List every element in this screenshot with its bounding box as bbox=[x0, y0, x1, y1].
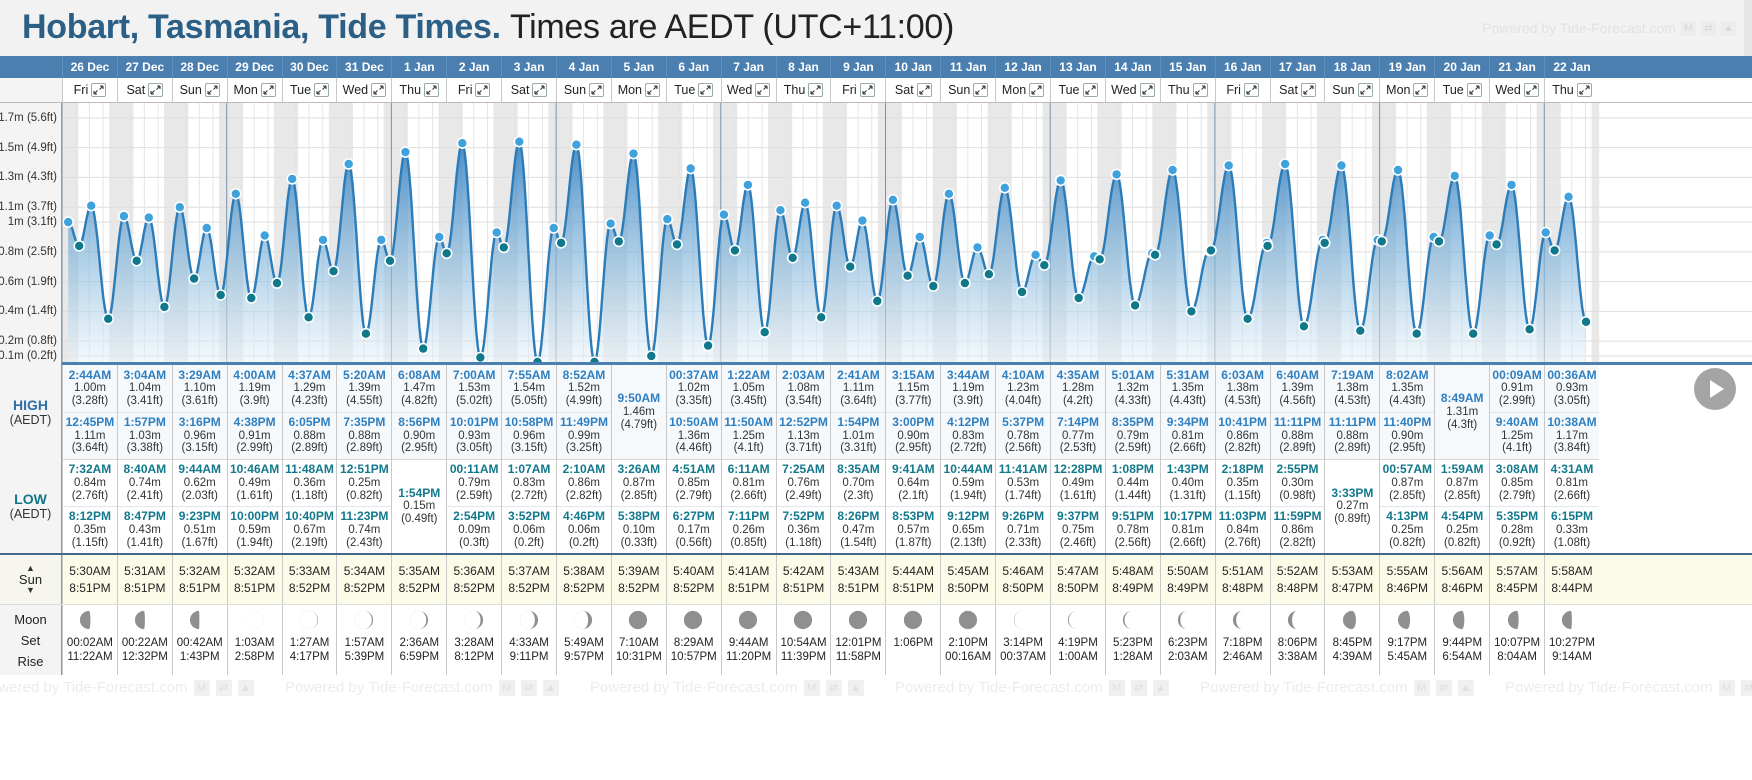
tide-event: 9:40AM1.25m(4.1ft) bbox=[1490, 412, 1544, 460]
high-tide-point[interactable] bbox=[260, 231, 270, 241]
moonrise-time: 11:39PM bbox=[781, 651, 826, 663]
moonset-label: Set bbox=[21, 633, 41, 648]
high-tide-point[interactable] bbox=[492, 228, 502, 238]
moon-phase-icon bbox=[628, 610, 649, 631]
high-tide-point[interactable] bbox=[175, 202, 185, 212]
low-tide-point[interactable] bbox=[1017, 287, 1027, 297]
high-tide-point[interactable] bbox=[376, 235, 386, 245]
tide-time: 11:49PM bbox=[560, 416, 608, 429]
high-tide-point[interactable] bbox=[915, 232, 925, 242]
low-tide-block: 7:32AM0.84m(2.76ft)8:12PM0.35m(1.15ft) bbox=[63, 459, 117, 553]
low-tide-point[interactable] bbox=[845, 262, 855, 272]
tide-height-ft: (2.89ft) bbox=[346, 442, 382, 455]
low-tide-point[interactable] bbox=[132, 256, 142, 266]
tide-height-m: 0.99m bbox=[568, 430, 600, 443]
low-tide-point[interactable] bbox=[1263, 241, 1273, 251]
high-tide-point[interactable] bbox=[287, 174, 297, 184]
tide-time: 11:11PM bbox=[1274, 416, 1321, 429]
tide-height-m: 1.03m bbox=[129, 430, 161, 443]
tide-height-ft: (0.56ft) bbox=[676, 537, 712, 550]
low-tide-point[interactable] bbox=[1130, 300, 1140, 310]
date-header-cell[interactable]: 27 Dec bbox=[117, 56, 172, 78]
date-header-cell[interactable]: 8 Jan bbox=[776, 56, 831, 78]
tide-height-m: 0.86m bbox=[568, 477, 600, 490]
tide-time: 10:41PM bbox=[1218, 416, 1267, 429]
high-tide-point[interactable] bbox=[973, 242, 983, 252]
tide-time: 4:12PM bbox=[947, 416, 989, 429]
y-axis-tick-label: 0.1m (0.2ft) bbox=[0, 350, 57, 362]
moon-phase-icon bbox=[299, 610, 320, 631]
moon-cell: 9:44AM11:20PM bbox=[721, 605, 776, 675]
high-tide-point[interactable] bbox=[1485, 231, 1495, 241]
tide-height-ft: (1.41ft) bbox=[127, 537, 163, 550]
tide-event: 00:57AM0.87m(2.85ft) bbox=[1380, 460, 1434, 506]
low-tide-point[interactable] bbox=[1434, 236, 1444, 246]
low-tide-point[interactable] bbox=[418, 344, 428, 354]
tide-height-m: 0.88m bbox=[294, 430, 326, 443]
high-tide-point[interactable] bbox=[1224, 161, 1234, 171]
low-tide-point[interactable] bbox=[703, 341, 713, 351]
play-button-overlay[interactable] bbox=[1694, 368, 1736, 410]
date-header-cell[interactable]: 4 Jan bbox=[556, 56, 611, 78]
low-tide-point[interactable] bbox=[730, 245, 740, 255]
low-tide-point[interactable] bbox=[1412, 329, 1422, 339]
tide-height-ft: (2.89ft) bbox=[1279, 442, 1315, 455]
low-tide-point[interactable] bbox=[1468, 329, 1478, 339]
low-tide-point[interactable] bbox=[1243, 314, 1253, 324]
tide-height-ft: (2.56ft) bbox=[1115, 537, 1151, 550]
sun-cell: 5:32AM8:51PM bbox=[172, 555, 227, 604]
low-tide-point[interactable] bbox=[1095, 254, 1105, 264]
date-header-cell[interactable]: 26 Dec bbox=[62, 56, 117, 78]
low-tide-point[interactable] bbox=[103, 314, 113, 324]
low-tide-block: 3:33PM0.27m(0.89ft) bbox=[1325, 459, 1379, 553]
tide-height-m: 0.06m bbox=[513, 524, 545, 537]
expand-icon[interactable] bbox=[1358, 83, 1373, 97]
dow-label: Sun bbox=[1332, 83, 1354, 97]
tide-height-ft: (2.79ft) bbox=[1499, 490, 1535, 503]
low-tide-point[interactable] bbox=[159, 302, 169, 312]
low-tide-point[interactable] bbox=[590, 357, 600, 362]
low-tide-point[interactable] bbox=[246, 293, 256, 303]
tide-height-m: 1.25m bbox=[1501, 430, 1533, 443]
date-header-cell[interactable]: 15 Jan bbox=[1160, 56, 1215, 78]
low-tide-point[interactable] bbox=[272, 278, 282, 288]
moonrise-time: 4:17PM bbox=[290, 651, 330, 663]
tide-time: 6:03AM bbox=[1221, 369, 1264, 382]
date-header-cell[interactable]: 1 Jan bbox=[391, 56, 446, 78]
low-tide-block: 1:08PM0.44m(1.44ft)9:51PM0.78m(2.56ft) bbox=[1106, 459, 1160, 553]
date-header-cell[interactable]: 22 Jan bbox=[1544, 56, 1599, 78]
date-header-cell[interactable]: 7 Jan bbox=[721, 56, 776, 78]
tide-height-ft: (0.89ft) bbox=[1334, 513, 1370, 526]
date-header-cell[interactable]: 29 Dec bbox=[227, 56, 282, 78]
low-tide-point[interactable] bbox=[361, 329, 371, 339]
tide-height-ft: (3.05ft) bbox=[456, 442, 492, 455]
date-header-cell[interactable]: 2 Jan bbox=[446, 56, 501, 78]
high-tide-point[interactable] bbox=[629, 149, 639, 159]
dow-label: Thu bbox=[784, 83, 806, 97]
date-header-cell[interactable]: 11 Jan bbox=[940, 56, 995, 78]
low-tide-point[interactable] bbox=[960, 278, 970, 288]
expand-icon[interactable] bbox=[475, 83, 490, 97]
tide-height-ft: (4.23ft) bbox=[291, 395, 327, 408]
high-tide-point[interactable] bbox=[1112, 169, 1122, 179]
high-tide-point[interactable] bbox=[944, 189, 954, 199]
powered-by-text: Powered by Tide-Forecast.com bbox=[0, 679, 188, 696]
low-tide-point[interactable] bbox=[1581, 317, 1591, 327]
high-tide-point[interactable] bbox=[571, 140, 581, 150]
tide-height-m: 1.31m bbox=[1446, 406, 1478, 419]
expand-icon[interactable] bbox=[1524, 83, 1539, 97]
high-tide-point[interactable] bbox=[686, 164, 696, 174]
low-tide-point[interactable] bbox=[1492, 239, 1502, 249]
expand-icon[interactable] bbox=[1193, 83, 1208, 97]
logo-badge-1: M bbox=[804, 680, 820, 696]
tide-event: 4:38PM0.91m(2.99ft) bbox=[228, 412, 282, 460]
low-tide-point[interactable] bbox=[533, 357, 543, 362]
high-tide-point[interactable] bbox=[662, 214, 672, 224]
date-header-cell[interactable]: 9 Jan bbox=[830, 56, 885, 78]
tide-event: 10:00PM0.59m(1.94ft) bbox=[228, 506, 282, 553]
moon-phase-icon bbox=[189, 610, 210, 631]
low-tide-point[interactable] bbox=[189, 274, 199, 284]
high-tide-point[interactable] bbox=[888, 195, 898, 205]
dow-label: Sat bbox=[126, 83, 145, 97]
tide-time: 4:10AM bbox=[1002, 369, 1045, 382]
sun-cell: 5:41AM8:51PM bbox=[721, 555, 776, 604]
moonset-time: 2:10PM bbox=[948, 637, 988, 649]
moon-cell: 00:02AM11:22AM bbox=[62, 605, 117, 675]
date-header-cell[interactable]: 12 Jan bbox=[995, 56, 1050, 78]
tide-event: 9:44AM0.62m(2.03ft) bbox=[173, 460, 227, 506]
tide-time: 10:17PM bbox=[1163, 510, 1212, 523]
low-tide-point[interactable] bbox=[475, 353, 485, 363]
high-tide-point[interactable] bbox=[549, 223, 559, 233]
dow-label: Tue bbox=[1058, 83, 1079, 97]
low-tide-point[interactable] bbox=[1186, 306, 1196, 316]
expand-icon[interactable] bbox=[917, 83, 932, 97]
dow-label: Sat bbox=[1279, 83, 1298, 97]
date-header-cell[interactable]: 30 Dec bbox=[282, 56, 337, 78]
date-header-row: 26 Dec27 Dec28 Dec29 Dec30 Dec31 Dec1 Ja… bbox=[0, 56, 1752, 78]
low-tide-point[interactable] bbox=[329, 266, 339, 276]
high-tide-point[interactable] bbox=[231, 189, 241, 199]
low-tide-point[interactable] bbox=[1320, 238, 1330, 248]
high-tide-point[interactable] bbox=[1564, 192, 1574, 202]
expand-icon[interactable] bbox=[371, 83, 386, 97]
tide-height-ft: (0.82ft) bbox=[1444, 537, 1480, 550]
sunrise-time: 5:53AM bbox=[1332, 564, 1373, 578]
dow-label: Sat bbox=[511, 83, 530, 97]
tide-height-m: 1.11m bbox=[843, 382, 874, 395]
tide-event: 2:18PM0.35m(1.15ft) bbox=[1216, 460, 1270, 506]
expand-icon[interactable] bbox=[589, 83, 604, 97]
date-header-cell[interactable]: 19 Jan bbox=[1379, 56, 1434, 78]
expand-icon[interactable] bbox=[1577, 83, 1592, 97]
dow-header-cell: Tue bbox=[666, 78, 721, 102]
date-header-cell[interactable]: 13 Jan bbox=[1050, 56, 1105, 78]
scrollbar-right[interactable] bbox=[1744, 0, 1752, 56]
logo-badge-3: ▲ bbox=[1153, 680, 1169, 696]
dow-label: Tue bbox=[290, 83, 311, 97]
high-tide-point[interactable] bbox=[63, 217, 73, 227]
date-header-cell[interactable]: 6 Jan bbox=[666, 56, 721, 78]
low-tide-point[interactable] bbox=[903, 271, 913, 281]
low-tide-point[interactable] bbox=[1150, 250, 1160, 260]
tide-time: 9:37PM bbox=[1057, 510, 1099, 523]
tide-height-m: 0.86m bbox=[1227, 430, 1259, 443]
sun-cell: 5:47AM8:50PM bbox=[1050, 555, 1105, 604]
high-tide-point[interactable] bbox=[1000, 183, 1010, 193]
low-tide-point[interactable] bbox=[672, 239, 682, 249]
high-tide-point[interactable] bbox=[719, 210, 729, 220]
high-tide-point[interactable] bbox=[606, 219, 616, 229]
date-header-cell[interactable]: 14 Jan bbox=[1105, 56, 1160, 78]
expand-icon[interactable] bbox=[1467, 83, 1482, 97]
moon-cell: 10:54AM11:39PM bbox=[776, 605, 831, 675]
tide-height-ft: (3.35ft) bbox=[676, 395, 712, 408]
expand-icon[interactable] bbox=[1029, 83, 1044, 97]
moon-phase-icon bbox=[1067, 610, 1088, 631]
high-tide-block: 3:29AM1.10m(3.61ft)3:16PM0.96m(3.15ft) bbox=[173, 365, 227, 459]
tide-height-ft: (2.3ft) bbox=[843, 490, 873, 503]
tide-time: 10:40PM bbox=[285, 510, 334, 523]
date-header-cell[interactable]: 10 Jan bbox=[885, 56, 940, 78]
low-tide-point[interactable] bbox=[74, 241, 84, 251]
high-tide-point[interactable] bbox=[144, 213, 154, 223]
moon-phase-icon bbox=[793, 610, 814, 631]
tide-height-ft: (1.74ft) bbox=[1005, 490, 1041, 503]
high-tide-point[interactable] bbox=[1541, 228, 1551, 238]
high-tide-point[interactable] bbox=[202, 223, 212, 233]
low-tide-point[interactable] bbox=[646, 351, 656, 361]
low-tide-point[interactable] bbox=[1299, 321, 1309, 331]
date-header-cell[interactable]: 17 Jan bbox=[1270, 56, 1325, 78]
high-tide-point[interactable] bbox=[857, 216, 867, 226]
date-header-cell[interactable]: 16 Jan bbox=[1215, 56, 1270, 78]
tide-time: 11:59PM bbox=[1274, 510, 1322, 523]
date-header-cell[interactable]: 18 Jan bbox=[1324, 56, 1379, 78]
sun-cell: 5:37AM8:52PM bbox=[501, 555, 556, 604]
tide-height-m: 0.65m bbox=[952, 524, 984, 537]
dow-label: Wed bbox=[1111, 83, 1136, 97]
tide-height-m: 1.46m bbox=[623, 406, 655, 419]
high-tide-point[interactable] bbox=[1280, 159, 1290, 169]
low-tide-point[interactable] bbox=[872, 296, 882, 306]
tide-event: 7:19AM1.38m(4.53ft) bbox=[1325, 365, 1379, 412]
tide-day-column: 7:55AM1.54m(5.05ft)10:58PM0.96m(3.15ft)1… bbox=[501, 365, 556, 553]
moonrise-time: 2:58PM bbox=[235, 651, 275, 663]
dow-header-cell: Sun bbox=[556, 78, 611, 102]
high-tide-block: 4:10AM1.23m(4.04ft)5:37PM0.78m(2.56ft) bbox=[996, 365, 1050, 459]
expand-icon[interactable] bbox=[973, 83, 988, 97]
low-tide-point[interactable] bbox=[556, 238, 566, 248]
high-tide-point[interactable] bbox=[344, 159, 354, 169]
dow-label: Fri bbox=[1226, 83, 1241, 97]
date-header-cell[interactable]: 21 Jan bbox=[1489, 56, 1544, 78]
high-tide-point[interactable] bbox=[1507, 180, 1517, 190]
high-tide-point[interactable] bbox=[400, 147, 410, 157]
dow-header-cell: Fri bbox=[62, 78, 117, 102]
date-header-cell[interactable]: 5 Jan bbox=[611, 56, 666, 78]
dow-label: Sun bbox=[180, 83, 202, 97]
expand-icon[interactable] bbox=[1083, 83, 1098, 97]
high-tide-point[interactable] bbox=[800, 198, 810, 208]
low-tide-point[interactable] bbox=[760, 327, 770, 337]
tide-height-ft: (0.82ft) bbox=[346, 490, 382, 503]
high-tide-point[interactable] bbox=[1336, 161, 1346, 171]
tide-time: 5:37PM bbox=[1002, 416, 1044, 429]
low-tide-point[interactable] bbox=[788, 253, 798, 263]
date-header-cell[interactable]: 3 Jan bbox=[501, 56, 556, 78]
chart-plot-area[interactable] bbox=[62, 103, 1752, 365]
high-tide-point[interactable] bbox=[86, 201, 96, 211]
dow-label: Fri bbox=[74, 83, 89, 97]
powered-by-footer: Powered by Tide-Forecast.comM⇄▲ bbox=[285, 679, 559, 696]
tide-time: 3:16PM bbox=[179, 416, 221, 429]
tide-height-m: 0.84m bbox=[74, 477, 106, 490]
low-tide-point[interactable] bbox=[1525, 324, 1535, 334]
low-tide-point[interactable] bbox=[1550, 245, 1560, 255]
low-tide-point[interactable] bbox=[1206, 245, 1216, 255]
low-tide-point[interactable] bbox=[1355, 326, 1365, 336]
tide-time: 11:11PM bbox=[1329, 416, 1376, 429]
expand-icon[interactable] bbox=[148, 83, 163, 97]
low-tide-point[interactable] bbox=[1377, 236, 1387, 246]
sun-cell: 5:58AM8:44PM bbox=[1544, 555, 1599, 604]
high-tide-point[interactable] bbox=[1450, 171, 1460, 181]
high-tide-point[interactable] bbox=[832, 201, 842, 211]
tide-time: 5:20AM bbox=[343, 369, 386, 382]
tide-height-m: 0.25m bbox=[1391, 524, 1423, 537]
tide-height-m: 0.59m bbox=[952, 477, 984, 490]
dow-header-cell: Wed bbox=[336, 78, 391, 102]
dow-header-cell: Thu bbox=[776, 78, 831, 102]
low-tide-point[interactable] bbox=[984, 269, 994, 279]
high-tide-point[interactable] bbox=[743, 180, 753, 190]
low-tide-point[interactable] bbox=[816, 312, 826, 322]
expand-icon[interactable] bbox=[1301, 83, 1316, 97]
moonrise-time: 4:39AM bbox=[1333, 651, 1373, 663]
low-tide-point[interactable] bbox=[385, 256, 395, 266]
moonrise-time: 5:39PM bbox=[345, 651, 385, 663]
tide-time: 9:40AM bbox=[1496, 416, 1539, 429]
low-tide-point[interactable] bbox=[442, 248, 452, 258]
low-tide-point[interactable] bbox=[928, 281, 938, 291]
tide-event: 4:54PM0.25m(0.82ft) bbox=[1435, 506, 1489, 553]
expand-icon[interactable] bbox=[755, 83, 770, 97]
moon-phase-icon bbox=[1397, 610, 1418, 631]
high-tide-point[interactable] bbox=[1393, 165, 1403, 175]
low-tide-point[interactable] bbox=[499, 242, 509, 252]
tide-height-ft: (2.79ft) bbox=[676, 490, 712, 503]
high-tide-point[interactable] bbox=[119, 211, 129, 221]
tide-time: 3:04AM bbox=[123, 369, 166, 382]
tide-time: 4:31AM bbox=[1551, 463, 1594, 476]
low-tide-point[interactable] bbox=[1074, 293, 1084, 303]
tide-event: 2:54PM0.09m(0.3ft) bbox=[447, 506, 501, 553]
sunset-time: 8:51PM bbox=[124, 581, 165, 595]
expand-icon[interactable] bbox=[1140, 83, 1155, 97]
tide-event: 6:15PM0.33m(1.08ft) bbox=[1545, 506, 1599, 553]
expand-icon[interactable] bbox=[698, 83, 713, 97]
tide-height-m: 0.93m bbox=[1556, 382, 1588, 395]
tide-height-m: 0.74m bbox=[348, 524, 380, 537]
y-axis-tick-label: 1.1m (3.7ft) bbox=[0, 201, 57, 213]
tide-event: 12:52PM1.13m(3.71ft) bbox=[777, 412, 831, 460]
expand-icon[interactable] bbox=[91, 83, 106, 97]
tide-height-ft: (4.1ft) bbox=[1502, 442, 1532, 455]
tide-event: 12:51PM0.25m(0.82ft) bbox=[337, 460, 391, 506]
high-tide-point[interactable] bbox=[1031, 250, 1041, 260]
date-header-cell[interactable]: 20 Jan bbox=[1434, 56, 1489, 78]
dow-header-cell: Mon bbox=[227, 78, 282, 102]
low-tide-point[interactable] bbox=[614, 236, 624, 246]
date-header-cell[interactable]: 28 Dec bbox=[172, 56, 227, 78]
tide-height-ft: (1.54ft) bbox=[840, 537, 876, 550]
expand-icon[interactable] bbox=[314, 83, 329, 97]
expand-icon[interactable] bbox=[1413, 83, 1428, 97]
moonrise-time: 2:03AM bbox=[1168, 651, 1208, 663]
low-tide-block: 1:54PM0.15m(0.49ft) bbox=[392, 459, 446, 553]
high-tide-point[interactable] bbox=[775, 205, 785, 215]
expand-icon[interactable] bbox=[808, 83, 823, 97]
tide-event: 7:52PM0.36m(1.18ft) bbox=[777, 506, 831, 553]
sunset-time: 8:50PM bbox=[948, 581, 989, 595]
low-tide-point[interactable] bbox=[1039, 260, 1049, 270]
tide-day-column: 8:49AM1.31m(4.3ft)1:59AM0.87m(2.85ft)4:5… bbox=[1434, 365, 1489, 553]
tide-height-m: 0.85m bbox=[1501, 477, 1533, 490]
expand-icon[interactable] bbox=[532, 83, 547, 97]
tide-day-column: 6:08AM1.47m(4.82ft)8:56PM0.90m(2.95ft)1:… bbox=[391, 365, 446, 553]
tide-time: 7:25AM bbox=[782, 463, 825, 476]
date-header-cell[interactable]: 31 Dec bbox=[336, 56, 391, 78]
powered-by-text: Powered by Tide-Forecast.com bbox=[1505, 679, 1713, 696]
expand-icon[interactable] bbox=[205, 83, 220, 97]
high-tide-point[interactable] bbox=[1056, 175, 1066, 185]
high-tide-point[interactable] bbox=[457, 138, 467, 148]
high-tide-point[interactable] bbox=[1168, 165, 1178, 175]
expand-icon[interactable] bbox=[261, 83, 276, 97]
low-tide-point[interactable] bbox=[216, 290, 226, 300]
tide-height-m: 0.25m bbox=[1446, 524, 1478, 537]
dow-header-cell: Tue bbox=[282, 78, 337, 102]
moon-phase-icon bbox=[1507, 610, 1528, 631]
high-tide-point[interactable] bbox=[434, 232, 444, 242]
expand-icon[interactable] bbox=[1244, 83, 1259, 97]
tide-height-ft: (4.33ft) bbox=[1115, 395, 1151, 408]
low-tide-point[interactable] bbox=[304, 312, 314, 322]
high-tide-point[interactable] bbox=[318, 235, 328, 245]
tide-time: 1:07AM bbox=[508, 463, 551, 476]
sunset-time: 8:47PM bbox=[1332, 581, 1373, 595]
tide-height-ft: (3.9ft) bbox=[953, 395, 983, 408]
tide-time: 1:57PM bbox=[124, 416, 166, 429]
tide-height-ft: (1.87ft) bbox=[895, 537, 931, 550]
high-tide-block: 2:03AM1.08m(3.54ft)12:52PM1.13m(3.71ft) bbox=[777, 365, 831, 459]
tide-event: 3:44AM1.19m(3.9ft) bbox=[941, 365, 995, 412]
expand-icon[interactable] bbox=[424, 83, 439, 97]
tide-height-ft: (1.61ft) bbox=[1060, 490, 1096, 503]
expand-icon[interactable] bbox=[645, 83, 660, 97]
expand-icon[interactable] bbox=[860, 83, 875, 97]
high-tide-point[interactable] bbox=[514, 137, 524, 147]
tide-height-ft: (0.49ft) bbox=[401, 513, 437, 526]
tide-time: 6:05PM bbox=[288, 416, 330, 429]
low-tide-block: 3:08AM0.85m(2.79ft)5:35PM0.28m(0.92ft) bbox=[1490, 459, 1544, 553]
tide-height-m: 1.04m bbox=[129, 382, 161, 395]
